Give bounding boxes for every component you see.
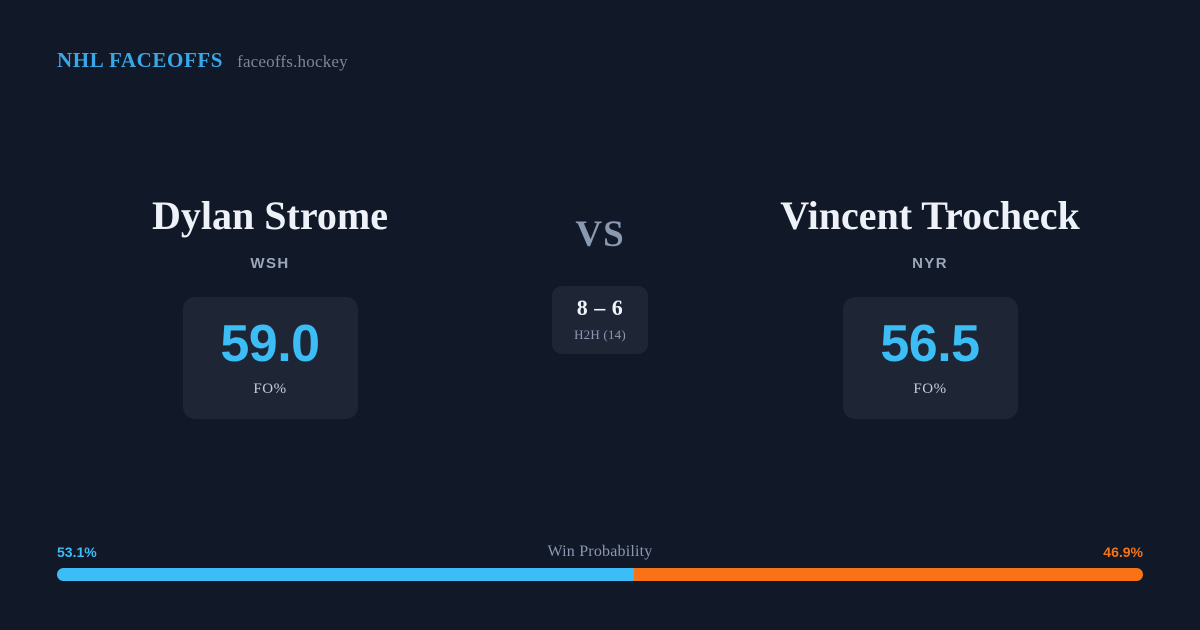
win-probability-bar-left: [57, 568, 634, 581]
head-to-head-box: 8 – 6 H2H (14): [552, 286, 648, 354]
player-name-left: Dylan Strome: [152, 196, 388, 236]
matchup-section: Dylan Strome WSH 59.0 FO% VS 8 – 6 H2H (…: [0, 196, 1200, 419]
versus-label: VS: [575, 216, 624, 253]
stat-value-right: 56.5: [880, 318, 979, 370]
brand-domain: faceoffs.hockey: [237, 52, 348, 72]
player-team-left: WSH: [250, 255, 289, 272]
player-card-left: Dylan Strome WSH 59.0 FO%: [40, 196, 500, 419]
win-probability-title: Win Probability: [547, 543, 652, 561]
stat-label-right: FO%: [913, 381, 946, 398]
stat-card-right: 56.5 FO%: [843, 297, 1018, 419]
player-name-right: Vincent Trocheck: [780, 196, 1080, 236]
win-probability-left-value: 53.1%: [57, 544, 97, 560]
win-probability-section: 53.1% Win Probability 46.9%: [57, 541, 1143, 581]
win-probability-labels: 53.1% Win Probability 46.9%: [57, 541, 1143, 563]
brand-title: NHL FACEOFFS: [57, 48, 223, 73]
win-probability-bar-right: [634, 568, 1143, 581]
site-header: NHL FACEOFFS faceoffs.hockey: [57, 48, 348, 73]
head-to-head-label: H2H (14): [574, 327, 626, 343]
win-probability-bar: [57, 568, 1143, 581]
win-probability-right-value: 46.9%: [1103, 544, 1143, 560]
versus-section: VS 8 – 6 H2H (14): [500, 196, 700, 354]
player-card-right: Vincent Trocheck NYR 56.5 FO%: [700, 196, 1160, 419]
head-to-head-score: 8 – 6: [577, 297, 624, 319]
stat-value-left: 59.0: [220, 318, 319, 370]
player-team-right: NYR: [912, 255, 948, 272]
stat-card-left: 59.0 FO%: [183, 297, 358, 419]
stat-label-left: FO%: [253, 381, 286, 398]
